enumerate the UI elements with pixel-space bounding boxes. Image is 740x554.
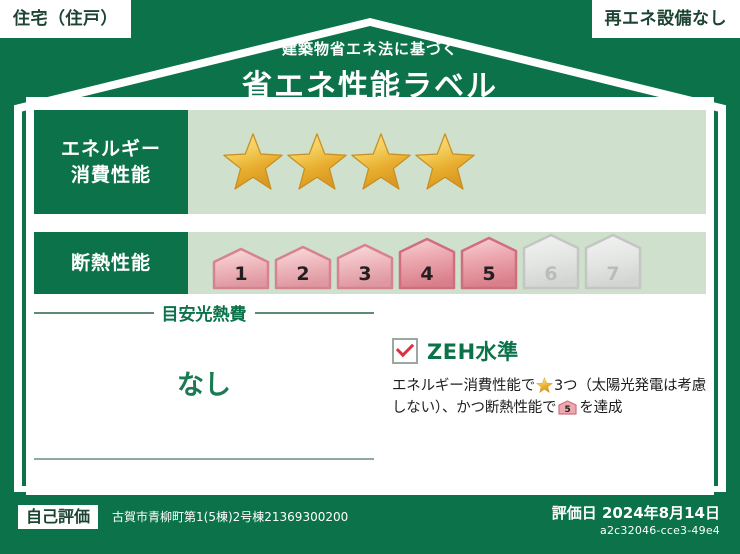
energy-consumption-label: エネルギー 消費性能: [34, 110, 188, 214]
svg-text:4: 4: [420, 263, 433, 285]
zeh-title: ZEH水準: [427, 336, 519, 366]
insulation-performance-panel: 1234567: [188, 232, 706, 294]
evaluation-date: 評価日 2024年8月14日: [552, 502, 720, 523]
svg-text:5: 5: [565, 405, 571, 415]
utility-cost-header: 目安光熱費: [34, 300, 374, 325]
star-rating: [222, 132, 476, 192]
svg-text:2: 2: [296, 263, 309, 285]
insulation-grade-badge: 5: [558, 400, 577, 415]
utility-cost-block: 目安光熱費 なし: [34, 300, 374, 402]
insulation-label-line1: 断熱性能: [71, 250, 151, 276]
rule-right: [255, 312, 375, 314]
energy-label-line1: エネルギー: [61, 136, 161, 162]
energy-performance-label: 住宅（住戸） 再エネ設備なし 建築物省エネ法に基づく 省エネ性能ラベル エネルギ…: [0, 0, 740, 554]
zeh-desc-line1-pre: エネルギー消費性能で: [392, 378, 535, 394]
star-icon: [222, 132, 284, 192]
svg-text:3: 3: [358, 263, 371, 285]
insulation-grade-5: 5: [460, 236, 518, 290]
evaluation-date-value: 2024年8月14日: [602, 504, 720, 522]
evaluation-id: a2c32046-cce3-49e4: [600, 524, 720, 537]
badge-building-type: 住宅（住戸）: [0, 0, 131, 38]
insulation-grade-scale: 1234567: [212, 233, 642, 290]
star-icon: [350, 132, 412, 192]
insulation-grade-6: 6: [522, 233, 580, 290]
utility-cost-title: 目安光熱費: [162, 300, 247, 325]
zeh-description: エネルギー消費性能で3つ（太陽光発電は考慮しない）、かつ断熱性能で5を達成: [392, 375, 712, 420]
zeh-block: ZEH水準 エネルギー消費性能で3つ（太陽光発電は考慮しない）、かつ断熱性能で5…: [392, 336, 712, 420]
property-address: 古賀市青柳町第1(5棟)2号棟21369300200: [112, 508, 348, 525]
insulation-performance-row: 断熱性能 1234567: [34, 232, 706, 294]
label-footer: 自己評価 古賀市青柳町第1(5棟)2号棟21369300200 評価日 2024…: [0, 496, 740, 554]
insulation-grade-7: 7: [584, 233, 642, 290]
badge-renewable-energy: 再エネ設備なし: [592, 0, 740, 38]
insulation-grade-3: 3: [336, 243, 394, 290]
insulation-grade-4: 4: [398, 237, 456, 290]
svg-text:6: 6: [544, 263, 557, 285]
zeh-desc-line1-post: 3つ（太陽光発電: [554, 378, 663, 394]
self-evaluation-badge: 自己評価: [18, 505, 98, 529]
star-icon: [414, 132, 476, 192]
energy-consumption-panel: [188, 110, 706, 214]
svg-text:7: 7: [606, 263, 619, 285]
insulation-grade-2: 2: [274, 245, 332, 290]
star-icon: [286, 132, 348, 192]
energy-consumption-row: エネルギー 消費性能: [34, 110, 706, 214]
svg-text:5: 5: [482, 263, 495, 285]
insulation-performance-label: 断熱性能: [34, 232, 188, 294]
utility-cost-bottom-rule: [34, 458, 374, 460]
checkmark-icon: [392, 338, 418, 364]
energy-label-line2: 消費性能: [71, 162, 151, 188]
rule-left: [34, 312, 154, 314]
zeh-desc-line2-post: を達成: [579, 400, 622, 416]
star-icon: [536, 377, 553, 394]
insulation-grade-1: 1: [212, 247, 270, 290]
svg-text:1: 1: [234, 263, 247, 285]
zeh-header: ZEH水準: [392, 336, 712, 366]
evaluation-date-label: 評価日: [552, 504, 597, 522]
utility-cost-value: なし: [34, 363, 374, 402]
